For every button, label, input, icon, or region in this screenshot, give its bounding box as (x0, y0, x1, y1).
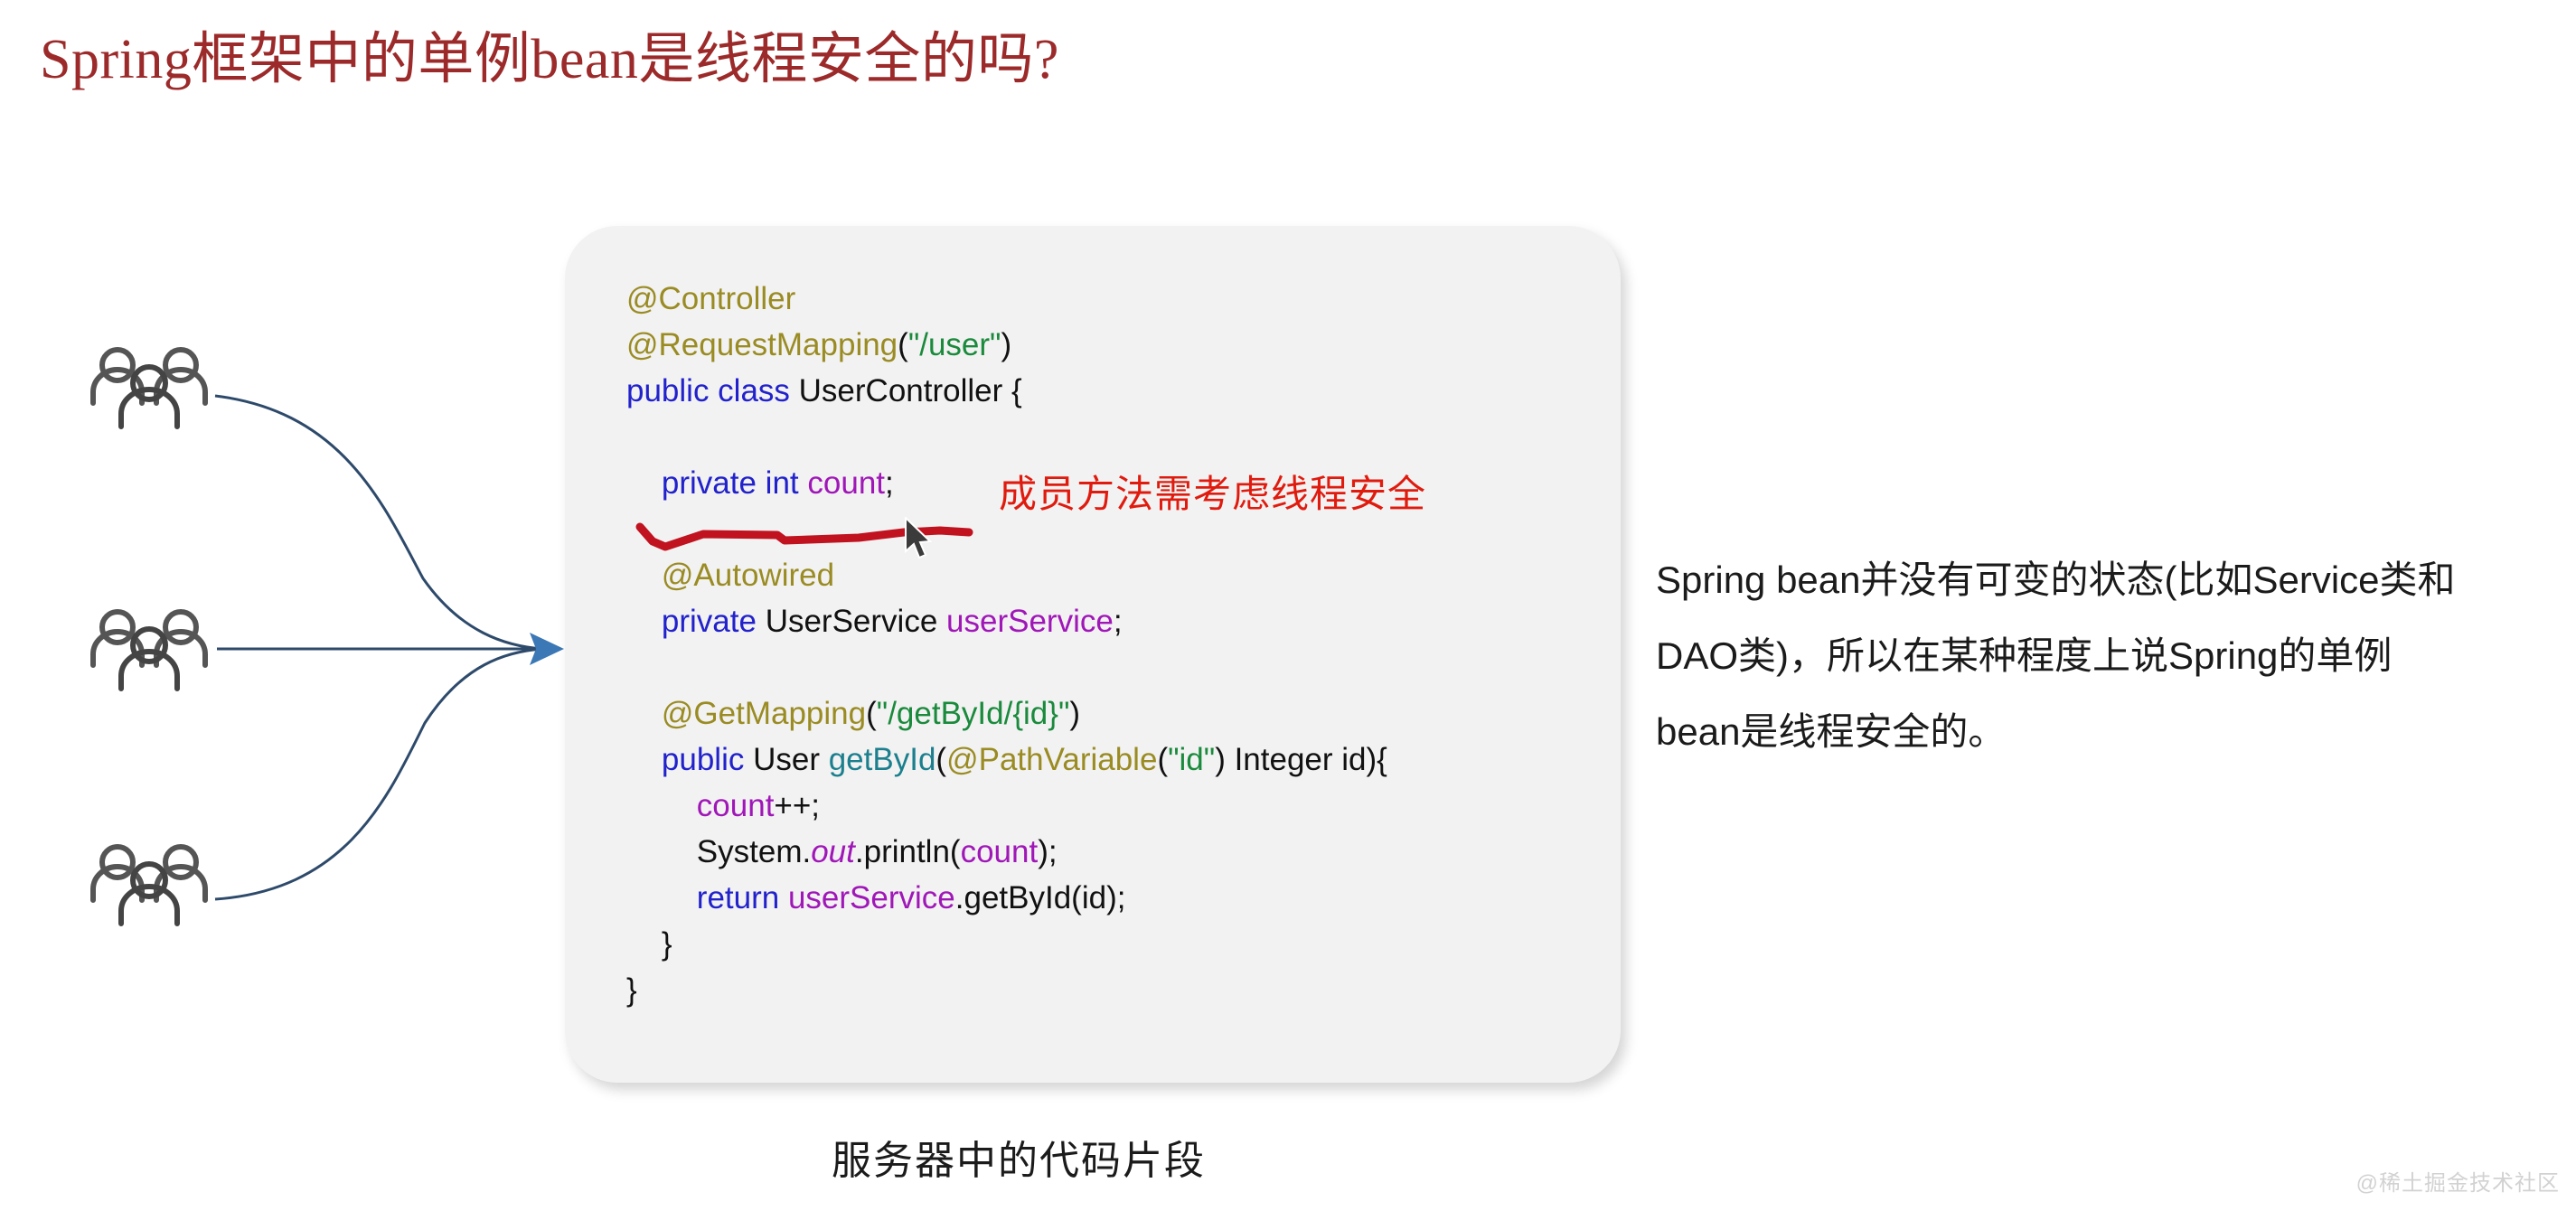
code-line: public User getById(@PathVariable("id") … (626, 737, 1387, 783)
code-token: public (662, 742, 744, 777)
client-group-icon (81, 605, 217, 692)
code-token: count (807, 465, 885, 501)
code-token: .getById(id); (955, 880, 1126, 915)
code-token: ( (935, 742, 946, 777)
code-line: count++; (626, 783, 1387, 829)
code-line: @RequestMapping("/user") (626, 322, 1387, 368)
code-token: UserController { (790, 373, 1022, 408)
code-snippet-card: @Controller@RequestMapping("/user")publi… (565, 226, 1621, 1083)
code-token: return (697, 880, 779, 915)
code-token: count (961, 834, 1039, 869)
code-line (626, 644, 1387, 690)
code-token: ; (1114, 604, 1123, 639)
code-token: UserService (757, 604, 946, 639)
code-token: "/user" (908, 327, 1001, 362)
code-token (626, 880, 697, 915)
code-token: ( (1157, 742, 1168, 777)
code-token: ++; (774, 788, 820, 823)
explanation-line: Spring bean并没有可变的状态(比如Service类和 (1656, 542, 2560, 618)
code-token: ( (866, 696, 877, 731)
explanation-line: bean是线程安全的。 (1656, 694, 2560, 770)
code-line: public class UserController { (626, 368, 1387, 414)
code-token: private int (662, 465, 799, 501)
code-token: out (811, 834, 855, 869)
code-token: } (626, 926, 672, 962)
code-token (626, 604, 662, 639)
code-token: "/getById/{id}" (877, 696, 1070, 731)
code-token (626, 696, 662, 731)
arrow-head (530, 633, 564, 665)
code-token: @Controller (626, 281, 795, 316)
code-token: } (626, 972, 637, 1008)
code-token: ); (1038, 834, 1057, 869)
code-token: User (744, 742, 828, 777)
code-token: public class (626, 373, 790, 408)
code-token: getById (829, 742, 936, 777)
code-token: "id" (1168, 742, 1215, 777)
code-token: @RequestMapping (626, 327, 898, 362)
code-token: .println( (855, 834, 961, 869)
code-line: System.out.println(count); (626, 829, 1387, 875)
explanation-paragraph: Spring bean并没有可变的状态(比如Service类和 DAO类)，所以… (1656, 542, 2560, 770)
code-token (626, 558, 662, 593)
client-group-icon (81, 343, 217, 430)
code-token: ) (1001, 327, 1011, 362)
code-line (626, 414, 1387, 460)
code-token (626, 788, 697, 823)
code-card-caption: 服务器中的代码片段 (832, 1128, 1206, 1186)
watermark: @稀土掘金技术社区 (2356, 1165, 2560, 1197)
code-token: @PathVariable (946, 742, 1157, 777)
code-token: userService (788, 880, 955, 915)
code-token (779, 880, 788, 915)
code-block: @Controller@RequestMapping("/user")publi… (626, 276, 1387, 1013)
page-title: Spring框架中的单例bean是线程安全的吗? (40, 27, 1059, 93)
code-line: private UserService userService; (626, 598, 1387, 644)
code-token: @Autowired (662, 558, 834, 593)
code-line: return userService.getById(id); (626, 875, 1387, 921)
code-line: } (626, 967, 1387, 1013)
code-line: } (626, 921, 1387, 967)
code-token: @GetMapping (662, 696, 866, 731)
code-token (626, 465, 662, 501)
explanation-line: DAO类)，所以在某种程度上说Spring的单例 (1656, 618, 2560, 694)
code-token: private (662, 604, 757, 639)
code-token: ; (885, 465, 894, 501)
code-token (799, 465, 808, 501)
connector-line-top (215, 396, 542, 649)
code-token: ( (898, 327, 908, 362)
code-line: @GetMapping("/getById/{id}") (626, 690, 1387, 737)
code-token (626, 742, 662, 777)
connector-line-bottom (215, 649, 542, 899)
code-token: ) (1069, 696, 1080, 731)
thread-safety-note: 成员方法需考虑线程安全 (999, 464, 1426, 519)
code-token: userService (946, 604, 1114, 639)
client-group-icon (81, 840, 217, 927)
code-token: ) Integer id){ (1215, 742, 1387, 777)
code-token: count (697, 788, 775, 823)
code-line: @Controller (626, 276, 1387, 322)
code-token: System. (626, 834, 811, 869)
code-line: @Autowired (626, 552, 1387, 598)
